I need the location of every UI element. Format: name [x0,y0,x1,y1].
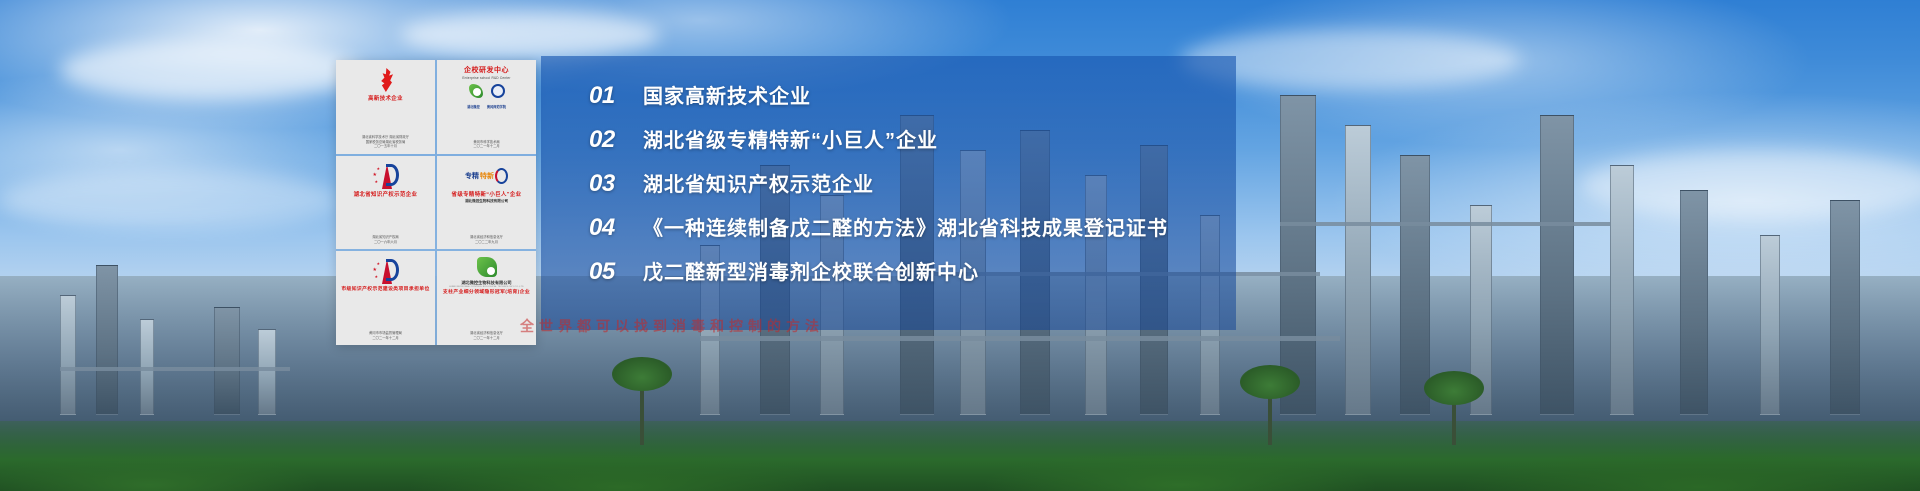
red-flame-icon [377,65,395,95]
certificate-date: 二〇二一年十二月 [470,336,503,340]
achievement-label: 湖北省级专精特新“小巨人”企业 [643,131,938,151]
certificate-footer: 黄冈市市场监督管理局 二〇二一年十二月 [369,331,402,342]
certificate-date: 二〇一六年六月 [372,240,398,244]
certificate-card[interactable]: ★ ★ ★ 市级知识产权示范建设类项目承担单位 黄冈市市场监督管理局 二〇二一年… [336,251,435,345]
plant-pipe [1280,222,1610,226]
partner-caption: 黄冈师范学院 [487,104,506,109]
plant-tower [214,307,240,415]
ip-star-icon: ★ ★ ★ [373,161,399,191]
university-seal-icon [491,84,505,98]
achievement-item[interactable]: 05 戊二醛新型消毒剂企校联合创新中心 [589,260,1236,284]
plant-tower [60,295,76,415]
ip-star-icon: ★ ★ ★ [373,256,399,286]
achievement-item[interactable]: 03 湖北省知识产权示范企业 [589,172,1236,196]
plant-pipe [60,367,290,371]
certificate-date: 二〇二二年九月 [470,240,503,244]
banner: 高新技术企业 湖北省科学技术厅 湖北省财政厅 国家税务总局湖北省税务局 二〇一五… [0,0,1920,491]
achievement-number: 01 [589,84,643,108]
cloud [0,170,340,230]
certificate-card[interactable]: 专精特新 省级专精特新“小巨人”企业 湖北微控生物科技有限公司 湖北省经济和信息… [437,156,536,250]
plant-pipe [700,336,1340,341]
partner-caption: 湖北微控 [467,104,480,109]
plant-tower [96,265,118,415]
plant-tower [258,329,276,415]
certificate-company-en: HUBEI MICROBIAL CONTROL BIOLOGICAL TECHN… [449,286,523,288]
plant-tower [1830,200,1860,415]
certificate-title: 湖北省知识产权示范企业 [354,192,418,198]
certificate-issuer-line: 湖北省经济和信息化厅 [470,331,503,335]
palm-foliage [1424,371,1484,405]
certificate-grid: 高新技术企业 湖北省科学技术厅 湖北省财政厅 国家税务总局湖北省税务局 二〇一五… [336,60,536,345]
certificate-date: 二〇二一年十二月 [369,336,402,340]
plant-tower [1680,190,1708,415]
grass-strip [0,421,1920,491]
certificate-footer: 湖北省知识产权局 二〇一六年六月 [372,235,398,246]
certificate-header: 企校研发中心 [464,65,509,75]
achievement-label: 国家高新技术企业 [643,87,811,107]
cloud [60,40,360,100]
achievement-label: 戊二醛新型消毒剂企校联合创新中心 [643,263,979,283]
achievement-item[interactable]: 04 《一种连续制备戊二醛的方法》湖北省科技成果登记证书 [589,216,1236,240]
achievement-item[interactable]: 02 湖北省级专精特新“小巨人”企业 [589,128,1236,152]
achievement-number: 03 [589,172,643,196]
palm-foliage [1240,365,1300,399]
partner-logos [469,80,505,102]
certificate-date: 二〇二一年十二月 [473,144,499,148]
achievement-number: 02 [589,128,643,152]
cloud [400,12,660,58]
certificate-footer: 湖北省科学技术厅 湖北省财政厅 国家税务总局湖北省税务局 二〇一五年十月 [362,135,409,150]
certificate-card[interactable]: 企校研发中心 Enterprise school R&D Center 湖北微控… [437,60,536,154]
achievement-number: 04 [589,216,643,240]
achievement-item[interactable]: 01 国家高新技术企业 [589,84,1236,108]
achievement-number: 05 [589,260,643,284]
certificate-footer: 湖北省经济和信息化厅 二〇二二年九月 [470,235,503,246]
plant-tower [1760,235,1780,415]
certificate-footer: 黄冈市科学技术局 二〇二一年十二月 [473,140,499,151]
achievement-label: 《一种连续制备戊二醛的方法》湖北省科技成果登记证书 [643,219,1168,239]
watermark-text: 全世界都可以找到消毒和控制的方法 [520,316,1380,336]
certificate-date: 二〇一五年十月 [362,144,409,148]
certificate-title: 省级专精特新“小巨人”企业 [452,192,522,198]
green-leaf-icon [469,84,483,98]
palm-foliage [612,357,672,391]
certificate-issuer-line: 黄冈市市场监督管理局 [369,331,402,335]
achievements-panel: 01 国家高新技术企业 02 湖北省级专精特新“小巨人”企业 03 湖北省知识产… [541,56,1236,330]
certificate-card[interactable]: 高新技术企业 湖北省科学技术厅 湖北省财政厅 国家税务总局湖北省税务局 二〇一五… [336,60,435,154]
plant-tower [1540,115,1574,415]
certificate-title: 支柱产业细分领域隐形冠军(培育)企业 [443,290,530,296]
certificate-title: 高新技术企业 [368,96,403,102]
certificate-company: 湖北微控生物科技有限公司 [465,199,508,203]
certificate-card[interactable]: ★ ★ ★ 湖北省知识产权示范企业 湖北省知识产权局 二〇一六年六月 [336,156,435,250]
specialized-new-icon: 专精特新 [465,161,508,191]
plant-tower [1345,125,1371,415]
certificate-footer: 湖北省经济和信息化厅 二〇二一年十二月 [470,331,503,342]
green-leaf-icon [477,256,497,278]
achievement-label: 湖北省知识产权示范企业 [643,175,874,195]
certificate-title: 市级知识产权示范建设类项目承担单位 [341,287,429,293]
plant-tower [1400,155,1430,415]
plant-tower [1610,165,1634,415]
